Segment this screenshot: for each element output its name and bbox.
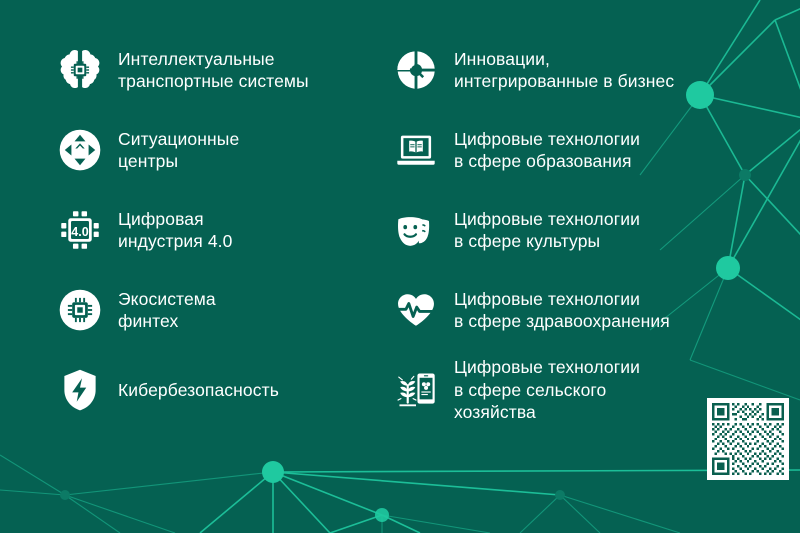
feature-label: Кибербезопасность: [118, 379, 279, 401]
feature-item-digital-education[interactable]: Цифровые технологии в сфере образования: [388, 110, 800, 190]
feature-label: Ситуационные центры: [118, 128, 239, 173]
feature-item-situational-centers[interactable]: Ситуационные центры: [52, 110, 380, 190]
feature-item-business-innovation[interactable]: Инновации, интегрированные в бизнес: [388, 30, 800, 110]
brain-chip-icon: [52, 42, 108, 98]
feature-label: Цифровые технологии в сфере здравоохране…: [454, 288, 670, 333]
heart-pulse-icon: [388, 282, 444, 338]
svg-text:4.0: 4.0: [71, 225, 88, 239]
feature-item-fintech-ecosystem[interactable]: Экосистема финтех: [52, 270, 380, 350]
shield-bolt-icon: [52, 362, 108, 418]
chip-40-icon: 4.0: [52, 202, 108, 258]
poster-canvas: Интеллектуальные транспортные системы: [0, 0, 800, 533]
feature-item-digital-industry-40[interactable]: 4.0 Цифровая индустрия 4.0: [52, 190, 380, 270]
microchip-circle-icon: [52, 282, 108, 338]
feature-item-digital-healthcare[interactable]: Цифровые технологии в сфере здравоохране…: [388, 270, 800, 350]
pie-chart-icon: [388, 42, 444, 98]
plant-smartphone-icon: [388, 362, 444, 418]
feature-label: Интеллектуальные транспортные системы: [118, 48, 309, 93]
laptop-book-icon: [388, 122, 444, 178]
left-feature-column: Интеллектуальные транспортные системы: [0, 0, 380, 533]
feature-label: Экосистема финтех: [118, 288, 216, 333]
qr-code[interactable]: [707, 398, 789, 480]
feature-label: Цифровые технологии в сфере образования: [454, 128, 640, 173]
feature-item-cybersecurity[interactable]: Кибербезопасность: [52, 350, 380, 430]
feature-label: Инновации, интегрированные в бизнес: [454, 48, 674, 93]
feature-label: Цифровая индустрия 4.0: [118, 208, 232, 253]
feature-label: Цифровые технологии в сфере культуры: [454, 208, 640, 253]
feature-lists: Интеллектуальные транспортные системы: [0, 0, 800, 533]
theater-masks-icon: [388, 202, 444, 258]
feature-label: Цифровые технологии в сфере сельского хо…: [454, 356, 640, 423]
feature-item-digital-culture[interactable]: Цифровые технологии в сфере культуры: [388, 190, 800, 270]
feature-item-intelligent-transport[interactable]: Интеллектуальные транспортные системы: [52, 30, 380, 110]
dpad-circle-icon: [52, 122, 108, 178]
